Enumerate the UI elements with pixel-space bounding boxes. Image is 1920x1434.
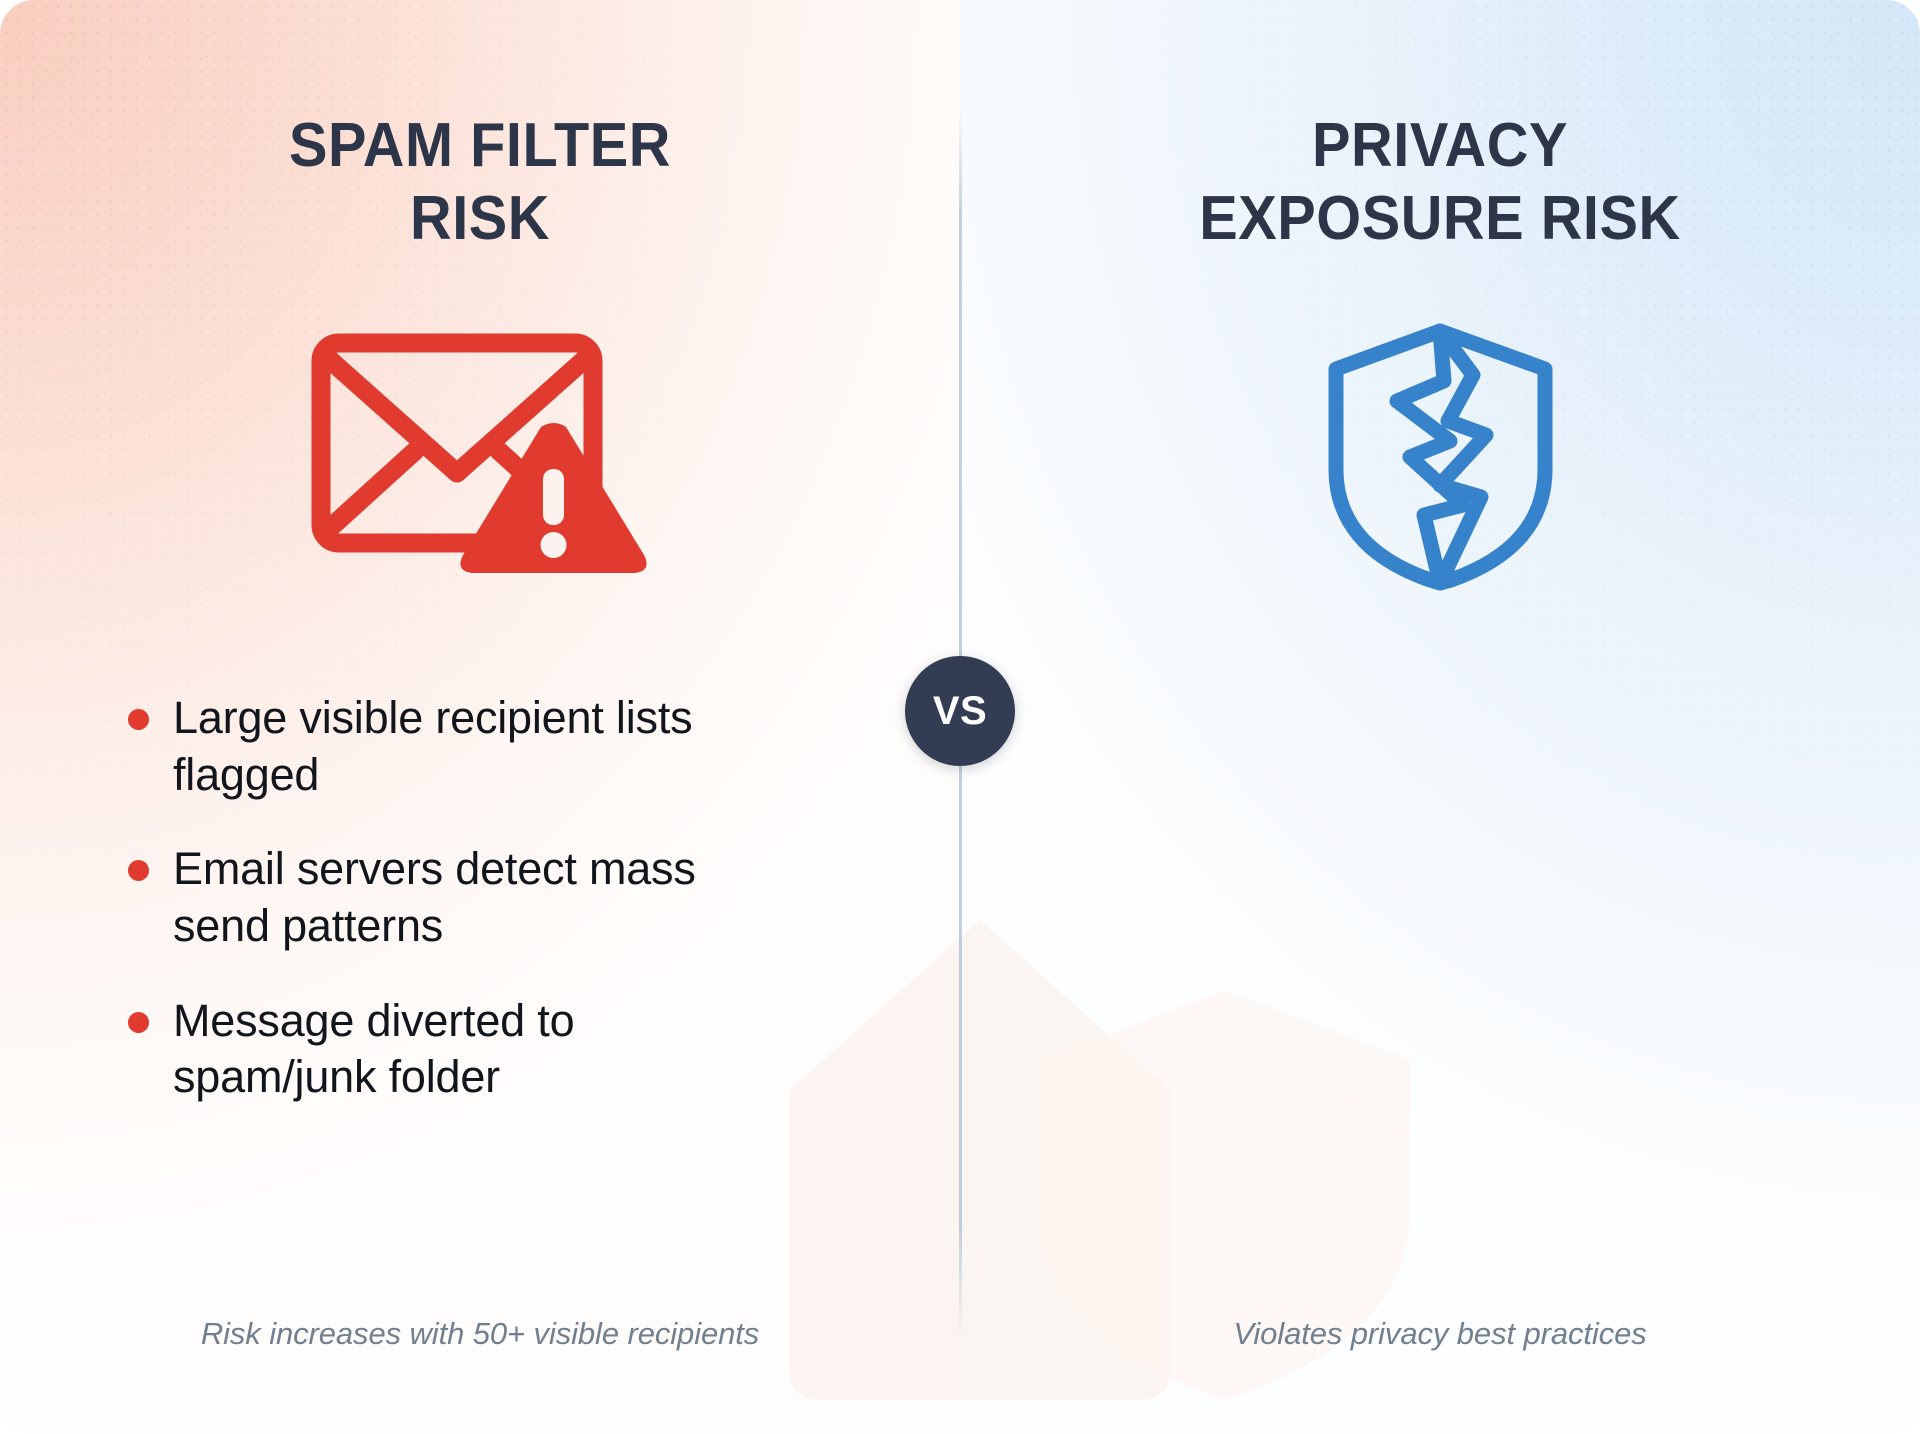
bullet-dot-icon (128, 1012, 149, 1033)
right-footnote: Violates privacy best practices (960, 1316, 1920, 1352)
exclamation-bar (543, 469, 564, 525)
exclamation-dot (541, 532, 567, 558)
infographic-canvas: VS SPAM FILTER RISK (0, 0, 1920, 1434)
left-bullet-list: Large visible recipient lists flagged Em… (128, 690, 788, 1144)
right-title-line-1: PRIVACY (994, 110, 1887, 183)
bullet-text: Email servers detect mass send patterns (173, 841, 788, 954)
left-column: SPAM FILTER RISK (0, 0, 960, 1434)
broken-shield-icon (1318, 319, 1563, 591)
vs-badge-label: VS (933, 689, 987, 734)
list-item: Message diverted to spam/junk folder (128, 993, 788, 1106)
left-panel-title: SPAM FILTER RISK (34, 110, 927, 255)
bullet-dot-icon (128, 860, 149, 881)
bullet-text: Message diverted to spam/junk folder (173, 993, 788, 1106)
left-icon-container (0, 330, 960, 580)
left-title-line-2: RISK (34, 183, 927, 256)
shield-right-half (1440, 331, 1545, 583)
bullet-dot-icon (128, 709, 149, 730)
shield-left-half (1336, 331, 1463, 583)
left-footnote: Risk increases with 50+ visible recipien… (0, 1316, 960, 1352)
right-title-line-2: EXPOSURE RISK (994, 183, 1887, 256)
bullet-text: Large visible recipient lists flagged (173, 690, 788, 803)
envelope-warning-icon (305, 323, 655, 588)
right-panel-title: PRIVACY EXPOSURE RISK (994, 110, 1887, 255)
right-icon-container (960, 330, 1920, 580)
right-column: PRIVACY EXPOSURE RISK Personal emails sh… (960, 0, 1920, 1434)
vs-badge: VS (905, 656, 1015, 766)
list-item: Email servers detect mass send patterns (128, 841, 788, 954)
left-title-line-1: SPAM FILTER (34, 110, 927, 183)
list-item: Large visible recipient lists flagged (128, 690, 788, 803)
envelope-crease-left (329, 451, 415, 529)
